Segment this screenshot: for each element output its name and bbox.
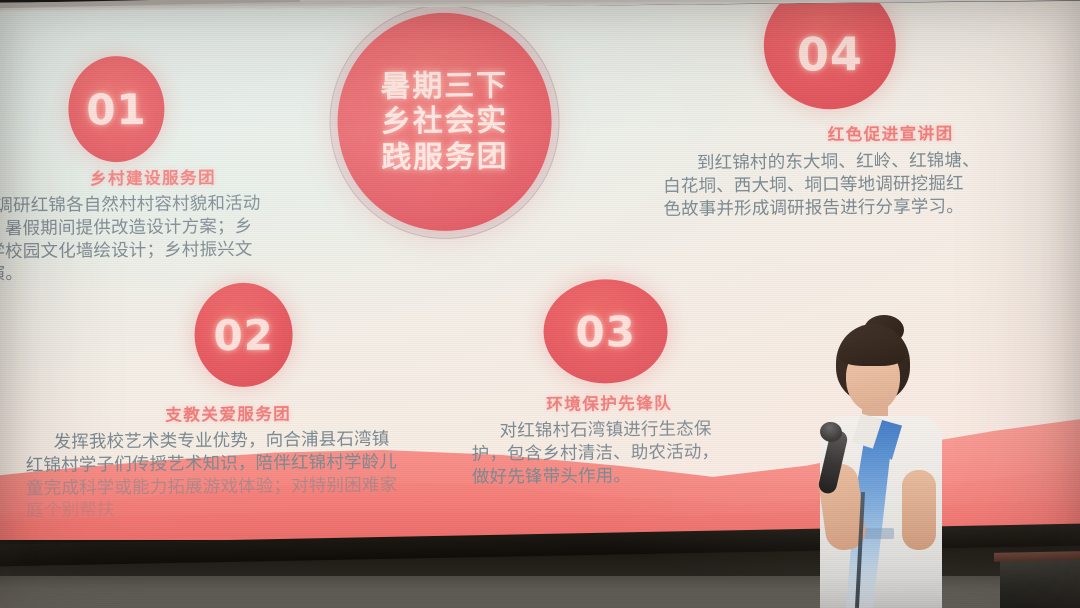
center-title-circle: 暑期三下 乡社会实 践服务团 xyxy=(337,12,553,232)
body-line: 护，包含乡村清洁、助农活动， xyxy=(472,440,780,466)
number-label-03: 03 xyxy=(575,307,636,357)
podium-top xyxy=(994,551,1080,562)
number-circle-02: 02 xyxy=(194,282,293,387)
section-title-03: 环境保护先锋队 xyxy=(439,389,779,416)
body-line: 调研红锦各自然村村容村貌和活动 xyxy=(0,193,277,219)
number-label-02: 02 xyxy=(213,310,274,360)
section-body-03: 对红锦村石湾镇进行生态保 护，包含乡村清洁、助农活动， 做好先锋带头作用。 xyxy=(471,418,780,489)
photo-scene: 暑期三下 乡社会实 践服务团 01 02 03 04 乡村建设服务团 调研红锦各… xyxy=(0,0,1080,608)
body-line: 庭个别帮扶 xyxy=(26,496,468,523)
number-circle-04: 04 xyxy=(763,1,896,110)
shirt-logo xyxy=(864,528,894,539)
body-line: 对红锦村石湾镇进行生态保 xyxy=(471,418,779,444)
center-title-line-3: 践服务团 xyxy=(381,139,509,175)
section-block-01: 乡村建设服务团 调研红锦各自然村村容村貌和活动 所，暑假期间提供改造设计方案；乡… xyxy=(0,164,278,287)
podium xyxy=(1000,558,1080,608)
section-title-04: 红色促进宣讲团 xyxy=(705,119,1077,147)
body-line: 做好先锋带头作用。 xyxy=(472,463,780,489)
body-line: 小学校园文化墙绘设计；乡村振兴文 xyxy=(0,238,278,264)
section-block-02: 支教关爱服务团 发挥我校艺术类专业优势，向合浦县石湾镇 红锦村学子们传授艺术知识… xyxy=(0,399,468,524)
section-body-04: 到红锦村的东大垌、红岭、红锦塘、 白花垌、西大垌、垌口等地调研挖掘红 色故事并形… xyxy=(663,149,1078,221)
number-circle-01: 01 xyxy=(68,56,165,163)
center-title-line-2: 乡社会实 xyxy=(381,104,509,140)
body-line: 所，暑假期间提供改造设计方案；乡 xyxy=(0,215,278,241)
section-body-02: 发挥我校艺术类专业优势，向合浦县石湾镇 红锦村学子们传授艺术知识，陪伴红锦村学龄… xyxy=(26,428,469,523)
number-label-01: 01 xyxy=(86,84,147,134)
right-arm xyxy=(902,470,936,550)
number-label-04: 04 xyxy=(797,27,863,82)
number-circle-03: 03 xyxy=(543,279,668,384)
hair-fringe xyxy=(839,340,905,366)
section-block-03: 环境保护先锋队 对红锦村石湾镇进行生态保 护，包含乡村清洁、助农活动， 做好先锋… xyxy=(459,389,780,489)
section-title-01: 乡村建设服务团 xyxy=(29,164,277,190)
body-line: 色故事并形成调研报告进行分享学习。 xyxy=(663,194,1077,221)
body-line: 表演。 xyxy=(0,261,278,286)
section-body-01: 调研红锦各自然村村容村貌和活动 所，暑假期间提供改造设计方案；乡 小学校园文化墙… xyxy=(0,193,278,287)
center-title-line-1: 暑期三下 xyxy=(380,69,508,105)
section-title-02: 支教关爱服务团 xyxy=(165,399,467,426)
presenter xyxy=(806,324,954,608)
section-block-04: 红色促进宣讲团 到红锦村的东大垌、红岭、红锦塘、 白花垌、西大垌、垌口等地调研挖… xyxy=(657,119,1078,221)
